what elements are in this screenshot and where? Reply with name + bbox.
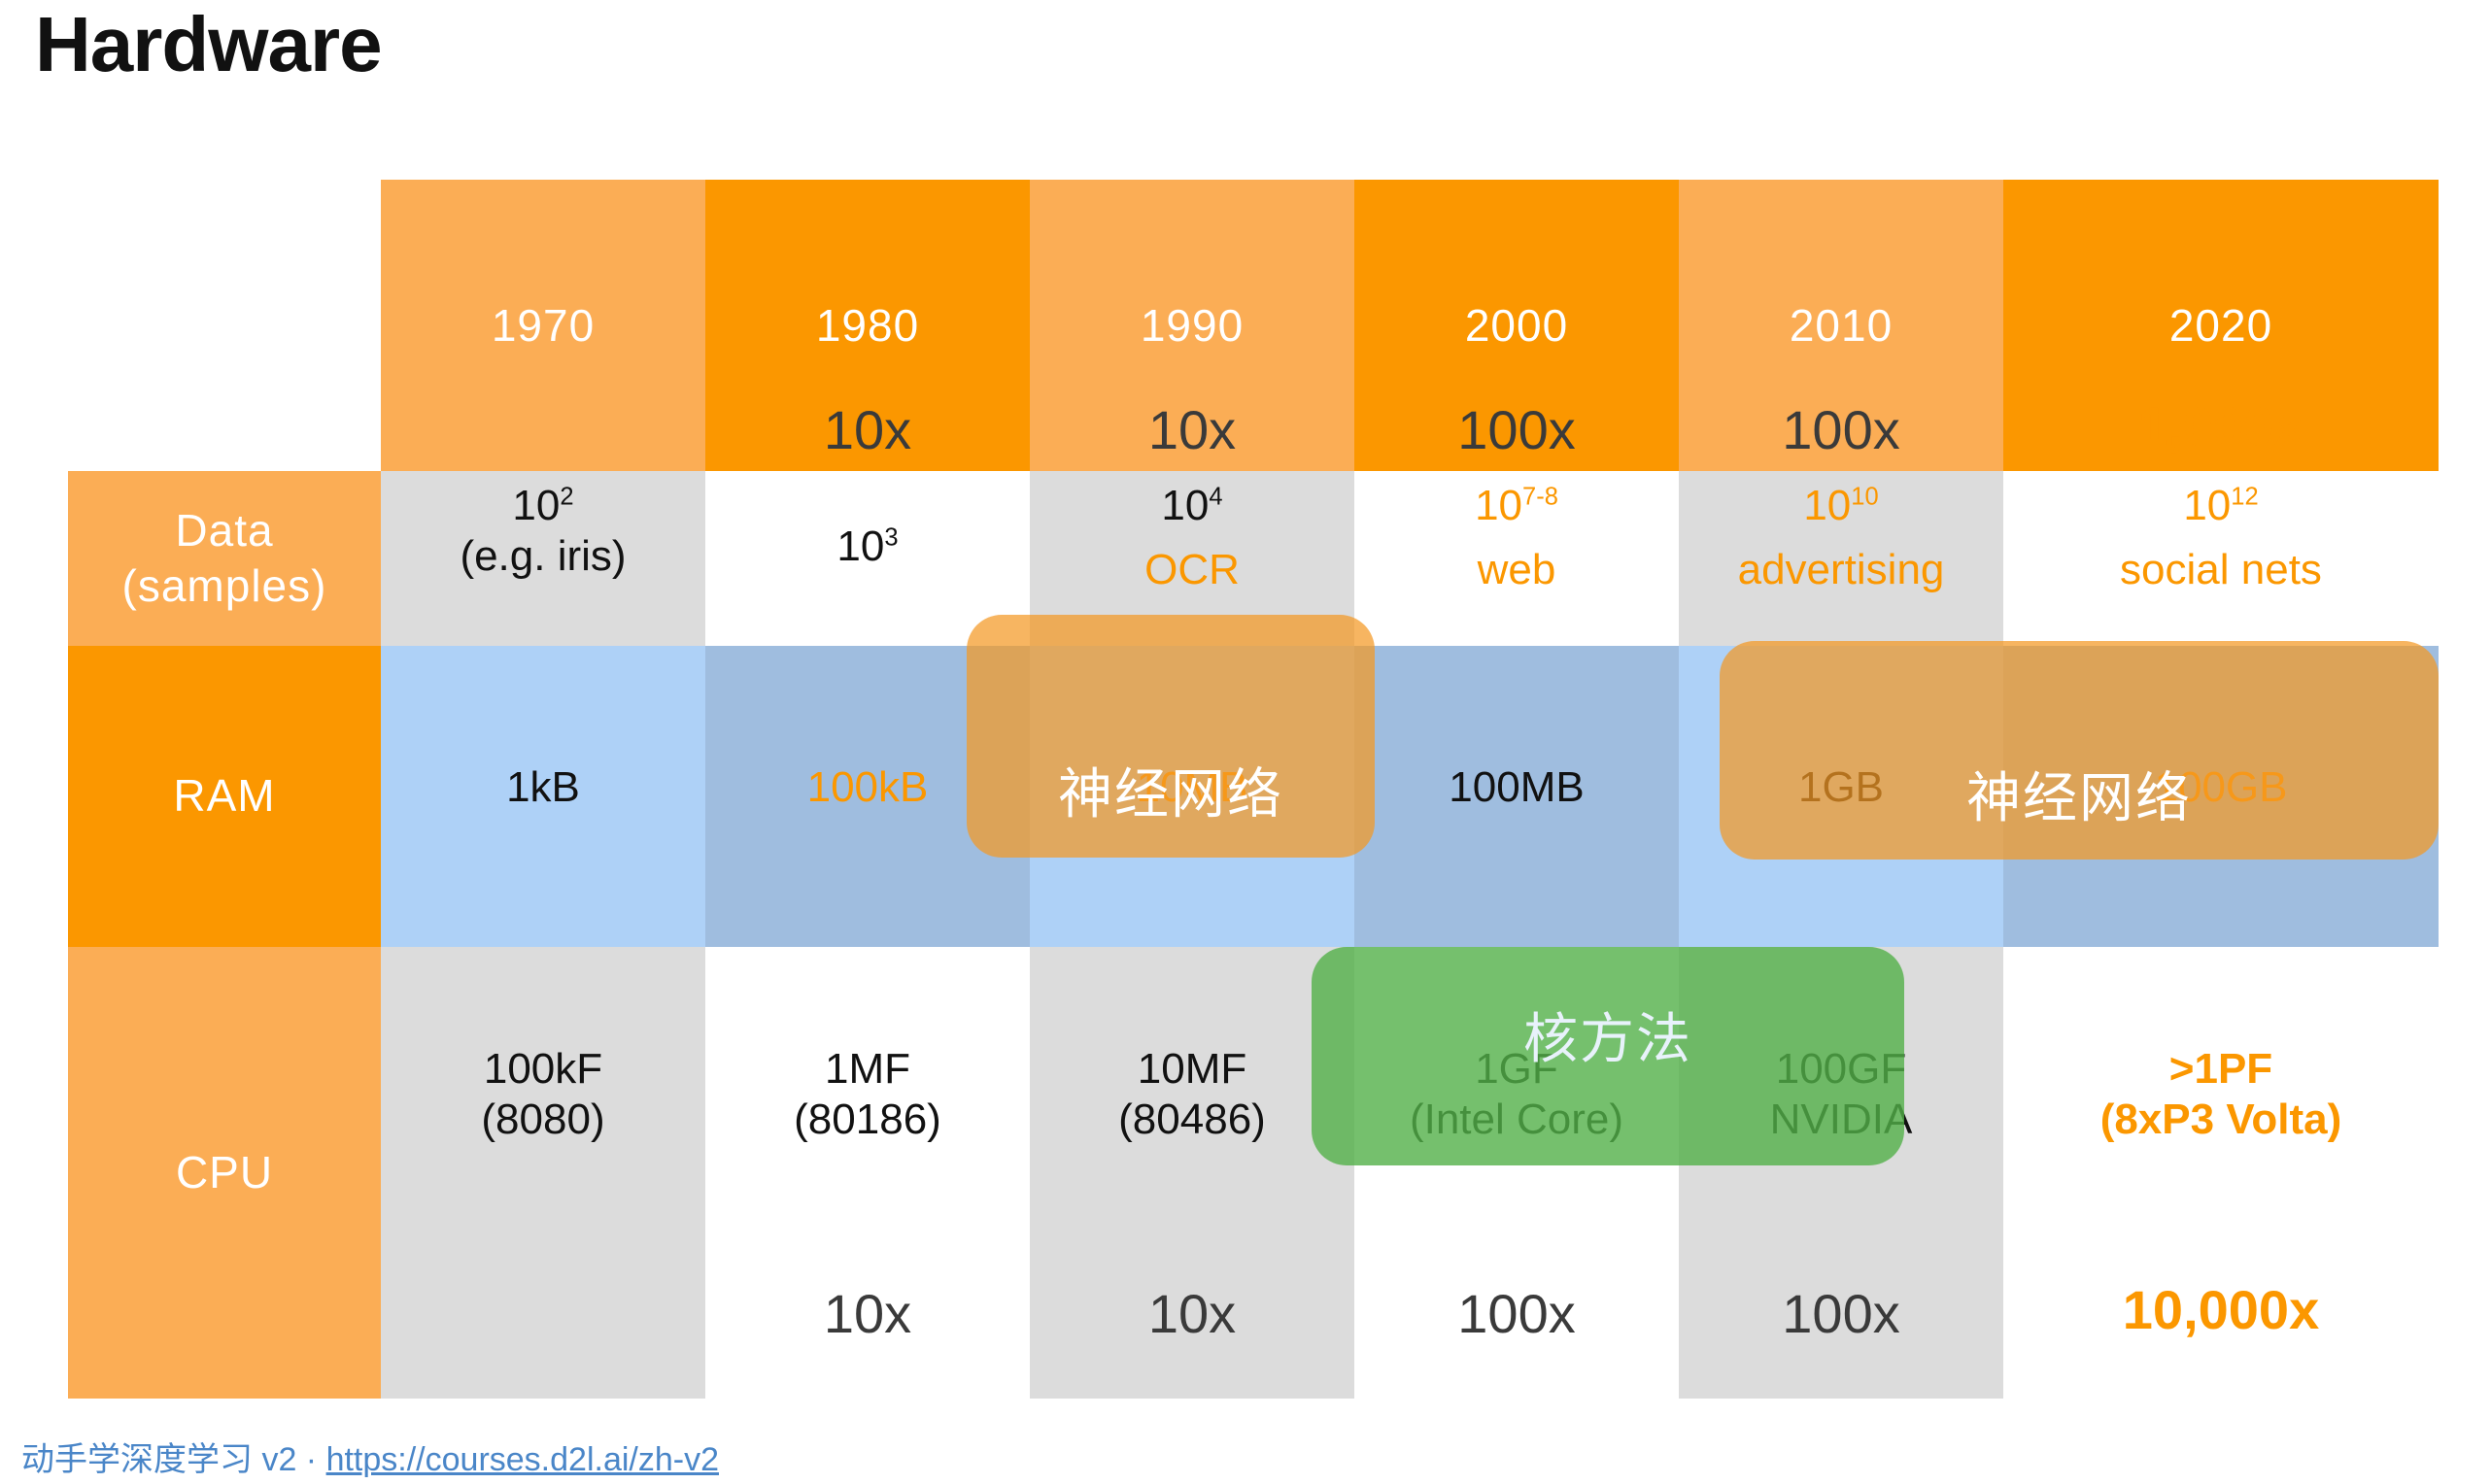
row-label-ram-text: RAM	[173, 768, 275, 825]
data-value-text: 103	[836, 522, 898, 572]
row-label-data-line1: Data	[122, 503, 327, 559]
data-multiplier-1980: 10x	[705, 403, 1030, 457]
footer: 动手学深度学习 v2 · https://courses.d2l.ai/zh-v…	[21, 1433, 719, 1480]
ram-value-text: 100kB	[807, 762, 929, 813]
page-title: Hardware	[35, 6, 382, 84]
row-label-data: Data (samples)	[68, 471, 381, 646]
cpu-caption: (8080)	[481, 1095, 604, 1145]
multiplier-text: 10x	[824, 403, 911, 457]
cpu-value-1980: 1MF (80186)	[705, 1044, 1030, 1145]
row-label-ram: RAM	[68, 646, 381, 947]
multiplier-text: 10x	[1148, 403, 1236, 457]
data-caption: social nets	[2120, 545, 2322, 595]
data-value-text: 1012	[2183, 481, 2258, 531]
cpu-caption: (8xP3 Volta)	[2100, 1095, 2342, 1145]
cpu-multiplier-1990: 10x	[1030, 1287, 1354, 1341]
multiplier-text: 100x	[1457, 1287, 1575, 1341]
data-value-1990: 104 OCR	[1030, 481, 1354, 595]
overlay-label: 核方法	[1523, 995, 1692, 1074]
data-exponent: 12	[2231, 483, 2258, 510]
year-label: 1970	[492, 299, 595, 352]
data-caption: web	[1478, 545, 1556, 595]
data-value-1970: 102 (e.g. iris)	[381, 481, 705, 582]
row-label-cpu: CPU	[68, 947, 381, 1399]
multiplier-text: 100x	[1782, 1287, 1899, 1341]
multiplier-text: 10x	[824, 1287, 911, 1341]
data-mantissa: 10	[512, 482, 560, 529]
data-multiplier-1990: 10x	[1030, 403, 1354, 457]
multiplier-text: 100x	[1457, 403, 1575, 457]
data-mantissa: 10	[1803, 482, 1851, 529]
data-exponent: 10	[1851, 483, 1878, 510]
cpu-value-1990: 10MF (80486)	[1030, 1044, 1354, 1145]
data-caption: advertising	[1738, 545, 1945, 595]
multiplier-text: 100x	[1782, 403, 1899, 457]
data-mantissa: 10	[1161, 482, 1209, 529]
data-value-1980: 103	[705, 522, 1030, 572]
multiplier-text: 1,000x	[2137, 399, 2303, 454]
row-label-cpu-text: CPU	[176, 1145, 273, 1201]
ram-value-1970: 1kB	[381, 762, 705, 813]
data-mantissa: 10	[1475, 482, 1522, 529]
year-header-1970: 1970	[381, 180, 705, 471]
ram-value-text: 1kB	[506, 762, 580, 813]
row-label-data-line2: (samples)	[122, 558, 327, 615]
multiplier-text: 10x	[1148, 1287, 1236, 1341]
data-value-2000: 107-8 web	[1354, 481, 1679, 595]
overlay-neural-network-1[interactable]: 神经网络	[967, 615, 1375, 858]
data-exponent: 2	[560, 483, 573, 510]
footer-text: 动手学深度学习 v2 ·	[21, 1441, 317, 1478]
cpu-caption: (80486)	[1118, 1095, 1266, 1145]
data-mantissa: 10	[2183, 482, 2231, 529]
cpu-value-1970: 100kF (8080)	[381, 1044, 705, 1145]
data-multiplier-2000: 100x	[1354, 403, 1679, 457]
ram-value-2000: 100MB	[1354, 762, 1679, 813]
footer-link[interactable]: https://courses.d2l.ai/zh-v2	[326, 1441, 719, 1478]
overlay-neural-network-2[interactable]: 神经网络	[1720, 641, 2439, 860]
data-exponent: 4	[1209, 483, 1222, 510]
cpu-multiplier-2000: 100x	[1354, 1287, 1679, 1341]
year-label: 2010	[1790, 299, 1893, 352]
cpu-multiplier-2020: 10,000x	[2003, 1283, 2439, 1337]
cpu-multiplier-2010: 100x	[1679, 1287, 2003, 1341]
year-label: 1980	[816, 299, 919, 352]
cpu-value-text: 10MF	[1138, 1044, 1246, 1095]
data-caption: (e.g. iris)	[460, 531, 626, 582]
data-value-2020: 1012 social nets	[2003, 481, 2439, 595]
data-value-text: 104	[1161, 481, 1222, 531]
data-value-text: 102	[512, 481, 573, 531]
overlay-label: 神经网络	[1966, 755, 2192, 833]
data-multiplier-2020: 1,000x	[2003, 399, 2439, 454]
cpu-value-text: 1MF	[825, 1044, 910, 1095]
cpu-multiplier-1980: 10x	[705, 1287, 1030, 1341]
year-label: 1990	[1141, 299, 1244, 352]
hardware-comparison-table: 1970 1980 1990 2000 2010 2020 Data (samp…	[68, 180, 2439, 1399]
cpu-value-2020: >1PF (8xP3 Volta)	[2003, 1044, 2439, 1145]
data-exponent: 3	[884, 523, 898, 551]
overlay-label: 神经网络	[1058, 751, 1283, 829]
ram-value-text: 100MB	[1449, 762, 1584, 813]
year-label: 2020	[2169, 299, 2272, 352]
data-multiplier-2010: 100x	[1679, 403, 2003, 457]
cpu-value-text: >1PF	[2169, 1044, 2272, 1095]
data-value-text: 1010	[1803, 481, 1878, 531]
data-caption: OCR	[1144, 545, 1240, 595]
year-label: 2000	[1465, 299, 1568, 352]
cpu-caption: (80186)	[794, 1095, 941, 1145]
cpu-value-text: 100kF	[484, 1044, 602, 1095]
overlay-kernel-method[interactable]: 核方法	[1312, 947, 1904, 1165]
data-value-text: 107-8	[1475, 481, 1558, 531]
data-value-2010: 1010 advertising	[1679, 481, 2003, 595]
multiplier-text: 10,000x	[2123, 1283, 2319, 1337]
data-exponent: 7-8	[1522, 483, 1558, 510]
data-mantissa: 10	[836, 523, 884, 570]
